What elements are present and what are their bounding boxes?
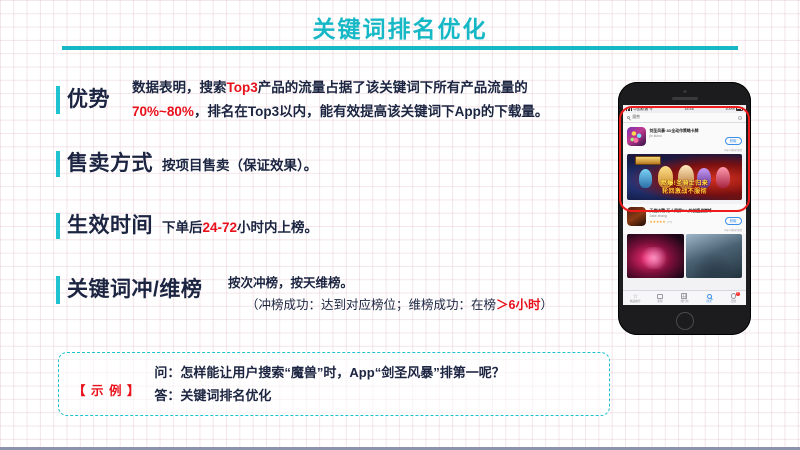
signal-icon (626, 107, 632, 111)
get-button[interactable]: 获取 (725, 137, 742, 145)
in-app-purchase-note: App 内购买项目 (724, 148, 742, 152)
app-banner-screenshot[interactable]: 燃爆!圣骑士归来 轮回激战不服彻 (627, 154, 742, 200)
keyword-rank-text-a: （冲榜成功：达到对应榜位；维榜成功：在榜 (246, 298, 496, 312)
star-icon: ★★★★★ (650, 220, 666, 224)
section-advantage-label: 优势 (67, 86, 110, 114)
accent-bar (56, 151, 60, 177)
advantage-text-a: 数据表明，搜索 (132, 80, 227, 95)
in-app-purchase-note: App 内购买项目 (724, 228, 742, 232)
section-keyword-rank-heading: 关键词冲/维榜 (56, 276, 202, 306)
section-advantage-heading: 优势 (56, 86, 110, 116)
example-answer: 答：关键词排名优化 (154, 384, 504, 407)
app-result-row[interactable]: 剑圣风暴·3D全动作策略卡牌 jin liuhui 获取 App 内购买项目 (623, 123, 746, 154)
charts-icon (681, 293, 687, 299)
battery-icon (736, 107, 743, 111)
advantage-top3-highlight: Top3 (227, 80, 258, 95)
app-icon[interactable] (627, 207, 646, 226)
banner-caption-2: 轮回激战不服彻 (627, 189, 742, 196)
battery-percent-label: 100% (725, 107, 735, 111)
section-advantage-body: 数据表明，搜索Top3产品的流量占据了该关键词下所有产品流量的 70%~80%，… (132, 76, 614, 124)
phone-screen: 中国联通 令 18:46 100% 魔兽 剑圣风暴·3D全动作策略卡牌 jin … (623, 105, 746, 305)
app-screenshot[interactable] (686, 234, 743, 278)
keyword-rank-text-b: ） (540, 298, 553, 312)
app-info: 天使决戰-万人同屏PK,共创盟战巅峰 Jake zhang ★★★★★ (77) (650, 207, 725, 224)
tab-updates-label: 更新 (721, 300, 746, 303)
get-button-wrap: 获取 App 内购买项目 (724, 207, 742, 232)
tab-charts-label: 排行榜 (672, 300, 697, 303)
tab-search-label: 搜索 (697, 300, 722, 303)
section-sale-method: 售卖方式 按项目售卖（保证效果）。 (56, 150, 317, 178)
title-underline (62, 46, 738, 50)
advantage-percent-highlight: 70%~80% (132, 104, 194, 119)
tab-featured[interactable]: ☆ 精品推荐 (623, 294, 648, 303)
clear-search-icon[interactable] (738, 116, 742, 120)
tab-charts[interactable]: 排行榜 (672, 293, 697, 303)
tab-featured-label: 精品推荐 (623, 300, 648, 303)
keyword-rank-line-1: 按次冲榜，按天维榜。 (228, 272, 618, 294)
advantage-line-2: 70%~80%，排名在Top3以内，能有效提高该关键词下App的下载量。 (132, 100, 614, 124)
rating: ★★★★★ (77) (650, 220, 725, 224)
updates-badge: 2 (736, 292, 740, 296)
section-keyword-rank-body: 按次冲榜，按天维榜。 （冲榜成功：达到对应榜位；维榜成功：在榜＞6小时） (228, 272, 618, 316)
tab-categories-label: 类别 (648, 300, 673, 303)
keyword-rank-line-2: （冲榜成功：达到对应榜位；维榜成功：在榜＞6小时） (246, 294, 618, 316)
status-bar: 中国联通 令 18:46 100% (623, 105, 746, 113)
effective-time-hours-highlight: 24-72 (203, 220, 238, 235)
app-name: 剑圣风暴·3D全动作策略卡牌 (650, 128, 725, 133)
page-header: 关键词排名优化 (0, 14, 800, 44)
example-question: 问：怎样能让用户搜索“魔兽”时，App“剑圣风暴”排第一呢？ (154, 361, 504, 384)
get-button[interactable]: 获取 (725, 217, 742, 225)
app-store-tab-bar: ☆ 精品推荐 类别 排行榜 搜索 2 更新 (623, 290, 746, 305)
app-icon[interactable] (627, 127, 646, 146)
front-camera-icon (683, 90, 686, 93)
advantage-text-b: 产品的流量占据了该关键词下所有产品流量的 (258, 80, 528, 95)
accent-bar (56, 213, 60, 239)
search-input[interactable]: 魔兽 (632, 115, 640, 120)
accent-bar (56, 276, 60, 304)
keyword-rank-hours-highlight: ＞6小时 (496, 298, 540, 312)
section-sale-method-label: 售卖方式 (67, 150, 153, 178)
app-screenshot[interactable] (627, 234, 684, 278)
advantage-text-c: ，排名在Top3以内，能有效提高该关键词下App的下载量。 (194, 104, 549, 119)
example-box: 【 示 例 】 问：怎样能让用户搜索“魔兽”时，App“剑圣风暴”排第一呢？ 答… (58, 352, 610, 416)
app-developer: jin liuhui (650, 134, 725, 139)
app-result-row[interactable]: 天使决戰-万人同屏PK,共创盟战巅峰 Jake zhang ★★★★★ (77)… (623, 204, 746, 235)
page-title: 关键词排名优化 (0, 14, 800, 44)
get-button-wrap: 获取 App 内购买项目 (724, 127, 742, 152)
clock-label: 18:46 (684, 107, 694, 111)
banner-logo (635, 156, 661, 165)
app-name: 天使决戰-万人同屏PK,共创盟战巅峰 (650, 208, 725, 213)
app-store-search-bar[interactable]: 魔兽 (623, 113, 746, 123)
section-effective-time-label: 生效时间 (67, 212, 153, 240)
rating-count: (77) (667, 220, 672, 224)
earpiece-speaker (672, 97, 698, 100)
carrier-label: 中国联通 令 (633, 107, 653, 112)
banner-caption-1: 燃爆!圣骑士归来 (627, 181, 742, 188)
section-keyword-rank-label: 关键词冲/维榜 (67, 276, 202, 304)
search-icon (627, 116, 630, 119)
section-effective-time: 生效时间 下单后24-72小时内上榜。 (56, 212, 318, 240)
tab-search[interactable]: 搜索 (697, 293, 722, 303)
search-icon (707, 294, 712, 299)
phone-mockup: 中国联通 令 18:46 100% 魔兽 剑圣风暴·3D全动作策略卡牌 jin … (618, 82, 751, 335)
effective-time-text-b: 小时内上榜。 (237, 220, 318, 235)
example-label: 【 示 例 】 (73, 370, 140, 399)
section-sale-method-text: 按项目售卖（保证效果）。 (162, 154, 317, 174)
advantage-line-1: 数据表明，搜索Top3产品的流量占据了该关键词下所有产品流量的 (132, 76, 614, 100)
tab-categories[interactable]: 类别 (648, 293, 673, 303)
app-info: 剑圣风暴·3D全动作策略卡牌 jin liuhui (650, 127, 725, 139)
app-developer: Jake zhang (650, 214, 725, 219)
category-icon (657, 294, 663, 299)
app-screenshot-strip[interactable] (627, 234, 742, 278)
section-effective-time-text: 下单后24-72小时内上榜。 (162, 216, 318, 236)
tab-updates[interactable]: 2 更新 (721, 293, 746, 303)
effective-time-text-a: 下单后 (162, 220, 203, 235)
accent-bar (56, 86, 60, 114)
example-content: 问：怎样能让用户搜索“魔兽”时，App“剑圣风暴”排第一呢？ 答：关键词排名优化 (154, 361, 504, 407)
home-button[interactable] (676, 312, 694, 330)
